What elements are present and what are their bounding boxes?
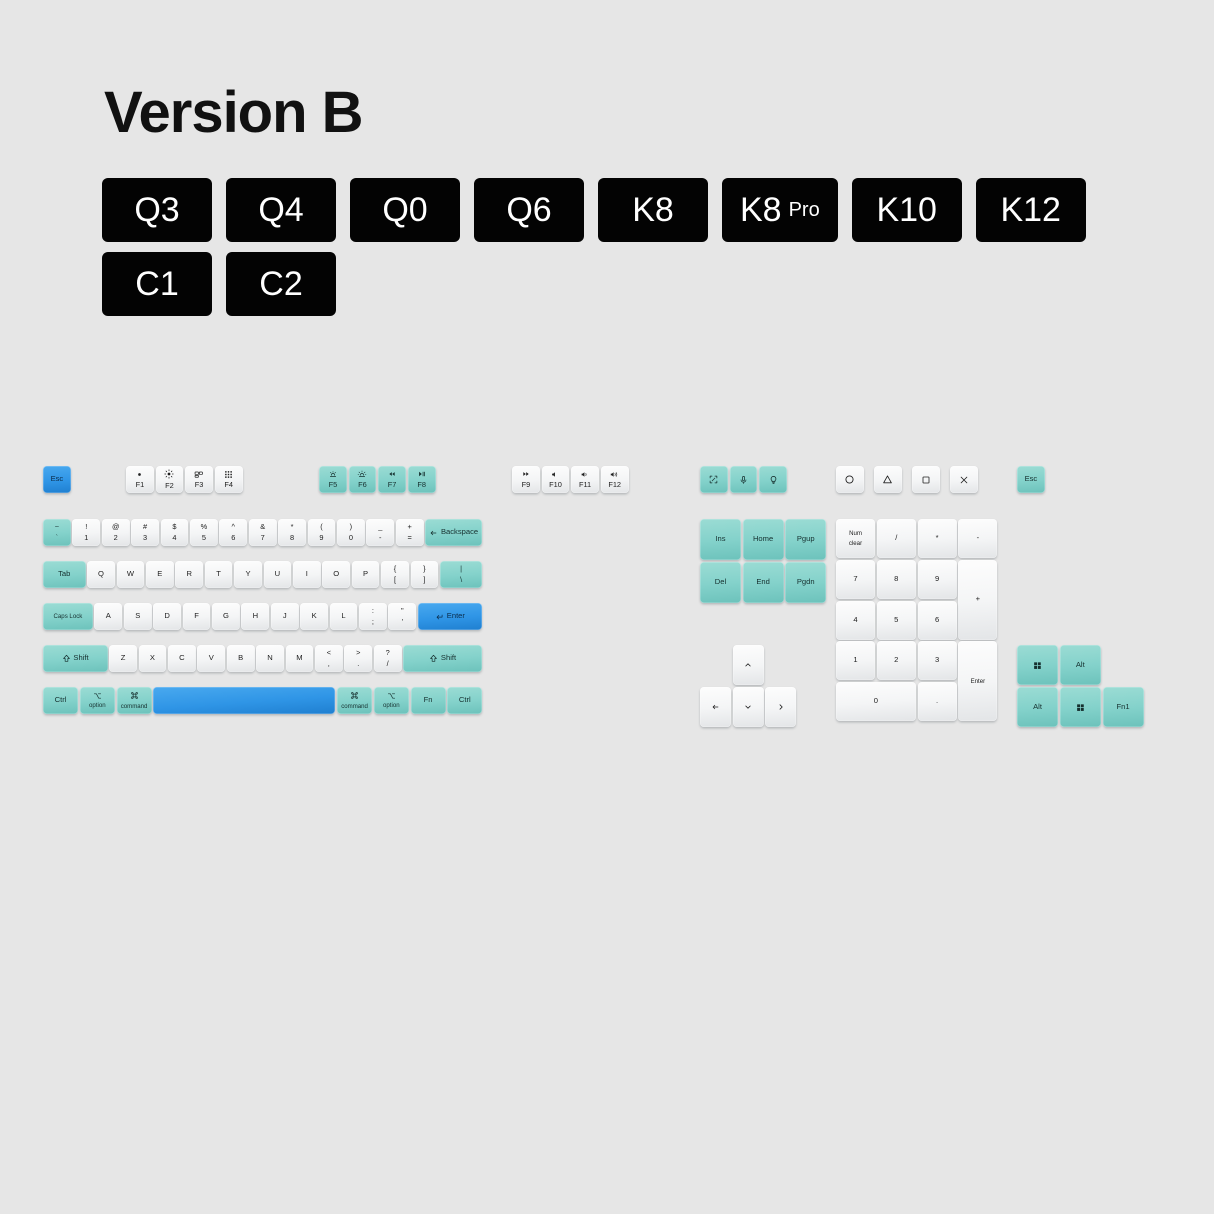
keycap-legend: 1	[853, 656, 857, 665]
keycap-qwerty-o[interactable]: O	[322, 561, 350, 588]
keycap-qwerty-e[interactable]: E	[146, 561, 174, 588]
keycap-legend: Home	[753, 535, 773, 544]
keycap-home-l[interactable]: L	[330, 603, 358, 630]
mute-icon	[551, 470, 560, 479]
keycap-legend: F	[194, 612, 199, 621]
keycap-nav-pgup[interactable]: Pgup	[785, 519, 826, 560]
keycap-legend-bottom: 5	[202, 534, 206, 543]
keycap-legend: 9	[935, 575, 939, 584]
mission-control-icon	[194, 470, 204, 479]
keycap-fn-label: F5	[329, 481, 338, 490]
keycap-shift-b[interactable]: B	[227, 645, 255, 672]
screenshot-icon	[709, 475, 718, 484]
keycap-qwerty-tab[interactable]: Tab	[43, 561, 86, 588]
keycap-qwerty-w[interactable]: W	[117, 561, 145, 588]
keycap-legend-top: &	[260, 523, 265, 532]
arrow-up-icon	[744, 661, 752, 669]
keycap-legend: command	[341, 703, 368, 710]
keycap-bottom-command[interactable]: command	[117, 687, 152, 714]
keycap-shift-n[interactable]: N	[256, 645, 284, 672]
keycap-legend-top: *	[291, 523, 294, 532]
keycap-bottom-option[interactable]: option	[374, 687, 409, 714]
keycap-alt-bottom[interactable]: Alt	[1017, 687, 1058, 727]
keycap-numpad-2[interactable]: 2	[877, 641, 916, 680]
keycap-legend: Shift	[73, 654, 88, 663]
keycap-legend: H	[253, 612, 258, 621]
keycap-fn-f7[interactable]: F7	[378, 466, 406, 493]
keycap-aux-cross-icon[interactable]	[950, 466, 978, 493]
keycap-num-4[interactable]: $4	[161, 519, 189, 546]
keycap-bottom-command[interactable]: command	[337, 687, 372, 714]
keycap-legend: Pgup	[797, 535, 815, 544]
keycap-legend-bottom: `	[56, 534, 58, 543]
keycap-layout-board: EscF1F2F3F4F5F6F7F8F9F10F11F12Esc~`!1@2#…	[0, 0, 1214, 1214]
keycap-numpad-1[interactable]: 1	[836, 641, 875, 680]
keycap-legend-bottom: -	[379, 534, 381, 543]
keycap-fn-label: F7	[388, 481, 397, 490]
keycap-fn-f11[interactable]: F11	[571, 466, 599, 493]
keycap-fn-f2[interactable]: F2	[156, 466, 184, 493]
fast-forward-icon	[521, 470, 531, 478]
keycap-legend: W	[127, 570, 134, 579]
keycap-legend: option	[89, 702, 106, 709]
keycap-legend-bottom: '	[402, 618, 403, 627]
keycap-fn-f3[interactable]: F3	[185, 466, 213, 493]
keycap-legend-bottom: ]	[423, 576, 425, 585]
keycap-qwerty-q[interactable]: Q	[87, 561, 115, 588]
keycap-fn-f5[interactable]: F5	[319, 466, 347, 493]
keycap-shift-[interactable]: >.	[344, 645, 372, 672]
keycap-legend: U	[275, 570, 280, 579]
keycap-home-k[interactable]: K	[300, 603, 328, 630]
keycap-shift-v[interactable]: V	[197, 645, 225, 672]
rewind-icon	[387, 470, 397, 478]
keycap-legend: 5	[894, 616, 898, 625]
keycap-legend-top: }	[423, 565, 425, 574]
keycap-win-right[interactable]	[1060, 687, 1101, 727]
keycap-legend: 3	[935, 656, 939, 665]
keycap-qwerty-[interactable]: |\	[440, 561, 483, 588]
keycap-numpad-6[interactable]: 6	[918, 601, 957, 640]
keycap-numpad-5[interactable]: 5	[877, 601, 916, 640]
keycap-arrow-up[interactable]	[733, 645, 764, 685]
arrow-down-icon	[744, 703, 752, 711]
keycap-legend-bottom: ;	[372, 618, 374, 627]
keycap-num-[interactable]: ~`	[43, 519, 71, 546]
keycap-legend-top: %	[201, 523, 208, 532]
keycap-alt-top[interactable]: Alt	[1060, 645, 1101, 685]
keycap-qwerty-r[interactable]: R	[175, 561, 203, 588]
keycap-fn-f6[interactable]: F6	[349, 466, 377, 493]
keycap-shift-z[interactable]: Z	[109, 645, 137, 672]
cross-icon	[959, 475, 969, 485]
keycap-arrow-left[interactable]	[700, 687, 731, 727]
keycap-legend: .	[936, 697, 938, 706]
command-icon	[130, 691, 139, 700]
keycap-legend-top: ^	[232, 523, 235, 532]
keycap-legend-bottom: /	[387, 660, 389, 669]
keycap-fn-label: F2	[165, 482, 174, 491]
keycap-legend-line2: clear	[849, 540, 862, 547]
keycap-shift-shift[interactable]: Shift	[403, 645, 482, 672]
keycap-home-f[interactable]: F	[183, 603, 211, 630]
keycap-legend: I	[306, 570, 308, 579]
keycap-win-left[interactable]	[1017, 645, 1058, 685]
shift-up-icon	[429, 654, 438, 663]
keycap-home-caps-lock[interactable]: Caps Lock	[43, 603, 93, 630]
keycap-legend: A	[106, 612, 111, 621]
keycap-fn-label: F1	[136, 481, 145, 490]
option-icon	[93, 692, 102, 700]
arrow-left-icon	[711, 703, 720, 711]
keycap-fn-f4[interactable]: F4	[215, 466, 243, 493]
keycap-legend: Backspace	[441, 528, 478, 537]
keycap-legend-top: #	[143, 523, 147, 532]
keycap-fn-label: F6	[358, 481, 367, 490]
command-icon	[350, 691, 359, 700]
keycap-aux-square-icon[interactable]	[912, 466, 940, 493]
keycap-numpad-plus[interactable]: +	[958, 560, 997, 640]
windows-icon	[1076, 703, 1085, 712]
keycap-legend-top: +	[408, 523, 412, 532]
shift-up-icon	[62, 654, 71, 663]
keycap-aux-screenshot-icon[interactable]	[700, 466, 728, 493]
square-icon	[921, 475, 931, 485]
keycap-num-8[interactable]: *8	[278, 519, 306, 546]
keycap-numpad-enter[interactable]: Enter	[958, 641, 997, 721]
keycap-fn-label: F11	[579, 481, 591, 490]
keycap-shift-[interactable]: ?/	[374, 645, 402, 672]
keycap-legend: G	[223, 612, 229, 621]
keycap-home-[interactable]: "'	[388, 603, 416, 630]
keycap-legend: Caps Lock	[54, 613, 83, 620]
lightbulb-icon	[769, 475, 778, 485]
keycap-fn-label: F8	[417, 481, 426, 490]
keycap-legend: 4	[853, 616, 857, 625]
launchpad-grid-icon	[224, 470, 233, 479]
keycap-home-a[interactable]: A	[94, 603, 122, 630]
keycap-legend: Ins	[715, 535, 725, 544]
keycap-numpad-zero[interactable]: 0	[836, 682, 916, 721]
keycap-home-enter[interactable]: Enter	[418, 603, 483, 630]
keycap-legend-bottom: ,	[328, 660, 330, 669]
keycap-legend: Q	[98, 570, 104, 579]
keycap-legend: Tab	[58, 570, 70, 579]
microphone-icon	[739, 475, 748, 485]
keycap-legend: Fn1	[1117, 703, 1130, 712]
keycap-legend-top: {	[394, 565, 396, 574]
arrow-left-icon	[429, 529, 438, 537]
brightness-high-icon	[164, 469, 174, 479]
keycap-legend-line1: Num	[849, 530, 862, 537]
option-icon	[387, 692, 396, 700]
keycap-legend: 6	[935, 616, 939, 625]
keycap-fn-esc[interactable]: Esc	[43, 466, 71, 493]
keycap-arrow-right[interactable]	[765, 687, 796, 727]
keycap-legend-bottom: 4	[172, 534, 176, 543]
keycap-legend: V	[209, 654, 214, 663]
enter-arrow-icon	[435, 613, 444, 621]
keycap-spacebar[interactable]	[153, 687, 335, 714]
keycap-legend: 2	[894, 656, 898, 665]
keycap-num-[interactable]: +=	[396, 519, 424, 546]
keycap-num-1[interactable]: !1	[72, 519, 100, 546]
keycap-legend-top: <	[327, 649, 331, 658]
keycap-shift-m[interactable]: M	[286, 645, 314, 672]
keycap-legend: Ctrl	[55, 696, 67, 705]
keycap-nav-ins[interactable]: Ins	[700, 519, 741, 560]
keycap-legend-bottom: [	[394, 576, 396, 585]
keycap-num-3[interactable]: #3	[131, 519, 159, 546]
keycap-home-g[interactable]: G	[212, 603, 240, 630]
keycap-legend: Y	[245, 570, 250, 579]
keycap-qwerty-[interactable]: {[	[381, 561, 409, 588]
windows-icon	[1033, 661, 1042, 670]
keycap-num-[interactable]: _-	[366, 519, 394, 546]
keycap-home-s[interactable]: S	[124, 603, 152, 630]
keycap-legend-top: )	[350, 523, 352, 532]
keycap-bottom-fn[interactable]: Fn	[411, 687, 446, 714]
keycap-legend: Alt	[1076, 661, 1085, 670]
keycap-legend: -	[977, 534, 980, 543]
keycap-legend: End	[756, 578, 770, 587]
keycap-fn-label: F3	[195, 481, 204, 490]
keycap-legend-top: @	[112, 523, 120, 532]
keycap-legend-top: "	[401, 607, 404, 616]
keycap-legend: T	[216, 570, 221, 579]
keycap-bottom-ctrl[interactable]: Ctrl	[43, 687, 78, 714]
keycap-legend: D	[164, 612, 169, 621]
keycap-bottom-ctrl[interactable]: Ctrl	[447, 687, 482, 714]
keycap-fn-f1[interactable]: F1	[126, 466, 154, 493]
keycap-nav-del[interactable]: Del	[700, 562, 741, 603]
keycap-legend-bottom: \	[460, 576, 462, 585]
play-pause-icon	[417, 470, 427, 478]
keycap-legend: /	[895, 534, 897, 543]
keycap-legend-top: |	[460, 565, 462, 574]
keycap-legend: *	[936, 534, 939, 543]
keycap-numpad-9[interactable]: 9	[918, 560, 957, 599]
keycap-fn-f12[interactable]: F12	[601, 466, 629, 493]
keycap-legend: E	[157, 570, 162, 579]
keycap-bottom-option[interactable]: option	[80, 687, 115, 714]
keycap-shift-c[interactable]: C	[168, 645, 196, 672]
keycap-legend: Enter	[971, 678, 986, 685]
keycap-legend: Alt	[1033, 703, 1042, 712]
keycap-num-backspace[interactable]: Backspace	[425, 519, 482, 546]
keycap-legend-bottom: 1	[84, 534, 88, 543]
keycap-fn1[interactable]: Fn1	[1103, 687, 1144, 727]
keycap-fn-label: F10	[549, 481, 562, 490]
keycap-legend-top: ?	[386, 649, 390, 658]
keycap-legend-top: !	[85, 523, 87, 532]
keycap-home-h[interactable]: H	[241, 603, 269, 630]
keycap-legend: option	[383, 702, 400, 709]
backlight-up-icon	[357, 470, 367, 479]
keycap-numpad-8[interactable]: 8	[877, 560, 916, 599]
keycap-qwerty-t[interactable]: T	[205, 561, 233, 588]
triangle-icon	[882, 474, 893, 485]
keycap-legend: B	[238, 654, 243, 663]
keycap-num-9[interactable]: (9	[308, 519, 336, 546]
keycap-legend-bottom: =	[408, 534, 412, 543]
keycap-legend: 7	[853, 575, 857, 584]
keycap-legend-bottom: 6	[231, 534, 235, 543]
keycap-legend-top: >	[356, 649, 360, 658]
keycap-shift-[interactable]: <,	[315, 645, 343, 672]
keycap-home-d[interactable]: D	[153, 603, 181, 630]
keycap-legend-top: :	[372, 607, 374, 616]
keycap-qwerty-i[interactable]: I	[293, 561, 321, 588]
keycap-legend: +	[976, 595, 980, 604]
keycap-aux-lightbulb-icon[interactable]	[759, 466, 787, 493]
keycap-shift-x[interactable]: X	[139, 645, 167, 672]
keycap-numpad-[interactable]: -	[958, 519, 997, 558]
keycap-legend: Esc	[1025, 475, 1038, 484]
keycap-shift-shift[interactable]: Shift	[43, 645, 108, 672]
keycap-numpad-4[interactable]: 4	[836, 601, 875, 640]
keycap-legend-bottom: 7	[261, 534, 265, 543]
keycap-legend-bottom: 3	[143, 534, 147, 543]
keycap-legend: 8	[894, 575, 898, 584]
keycap-fn-label: F9	[522, 481, 531, 490]
volume-up-icon	[609, 470, 620, 479]
keycap-legend-bottom: 0	[349, 534, 353, 543]
keycap-numpad-[interactable]: /	[877, 519, 916, 558]
keycap-legend: X	[150, 654, 155, 663]
keycap-legend-top: (	[320, 523, 322, 532]
keycap-home-j[interactable]: J	[271, 603, 299, 630]
keycap-nav-home[interactable]: Home	[743, 519, 784, 560]
keycap-legend: 0	[874, 697, 878, 706]
keycap-legend: R	[186, 570, 191, 579]
keycap-fn-f9[interactable]: F9	[512, 466, 540, 493]
keycap-num-7[interactable]: &7	[249, 519, 277, 546]
keycap-aux-esc[interactable]: Esc	[1017, 466, 1045, 493]
keycap-fn-f8[interactable]: F8	[408, 466, 436, 493]
keycap-legend-top: _	[378, 523, 382, 532]
keycap-qwerty-u[interactable]: U	[264, 561, 292, 588]
keycap-legend: O	[333, 570, 339, 579]
keycap-num-5[interactable]: %5	[190, 519, 218, 546]
keycap-aux-triangle-icon[interactable]	[874, 466, 902, 493]
circle-icon	[844, 474, 855, 485]
keycap-qwerty-p[interactable]: P	[352, 561, 380, 588]
keycap-legend: P	[363, 570, 368, 579]
keycap-legend-top: ~	[55, 523, 59, 532]
backlight-down-icon	[328, 470, 338, 479]
keycap-num-0[interactable]: )0	[337, 519, 365, 546]
keycap-nav-end[interactable]: End	[743, 562, 784, 603]
keycap-legend: Ctrl	[459, 696, 471, 705]
keycap-legend: Z	[121, 654, 126, 663]
keycap-legend: C	[179, 654, 184, 663]
keycap-legend: J	[283, 612, 287, 621]
keycap-legend: Enter	[447, 612, 465, 621]
keycap-legend: Pgdn	[797, 578, 815, 587]
keycap-numpad-num[interactable]: Numclear	[836, 519, 875, 558]
keycap-qwerty-y[interactable]: Y	[234, 561, 262, 588]
keycap-legend: Del	[715, 578, 726, 587]
keycap-legend: command	[121, 703, 148, 710]
keycap-legend-bottom: .	[357, 660, 359, 669]
keycap-home-[interactable]: :;	[359, 603, 387, 630]
keycap-arrow-down[interactable]	[733, 687, 764, 727]
keycap-num-6[interactable]: ^6	[219, 519, 247, 546]
keycap-numpad-[interactable]: .	[918, 682, 957, 721]
keycap-legend: K	[312, 612, 317, 621]
keycap-aux-circle-icon[interactable]	[836, 466, 864, 493]
brightness-low-icon	[135, 470, 144, 479]
keycap-numpad-[interactable]: *	[918, 519, 957, 558]
keycap-fn-label: F4	[224, 481, 233, 490]
arrow-right-icon	[777, 703, 785, 711]
keycap-legend-bottom: 2	[114, 534, 118, 543]
keycap-numpad-3[interactable]: 3	[918, 641, 957, 680]
keycap-aux-microphone-icon[interactable]	[730, 466, 758, 493]
keycap-legend-top: $	[172, 523, 176, 532]
keycap-legend-bottom: 8	[290, 534, 294, 543]
keycap-fn-label: F12	[608, 481, 621, 490]
keycap-qwerty-[interactable]: }]	[411, 561, 439, 588]
keycap-legend: Fn	[424, 696, 433, 705]
keycap-legend: L	[341, 612, 345, 621]
keycap-num-2[interactable]: @2	[102, 519, 130, 546]
keycap-fn-f10[interactable]: F10	[542, 466, 570, 493]
keycap-numpad-7[interactable]: 7	[836, 560, 875, 599]
keycap-legend: Esc	[51, 475, 64, 484]
volume-down-icon	[580, 470, 590, 479]
keycap-legend: Shift	[441, 654, 456, 663]
keycap-legend: M	[296, 654, 302, 663]
keycap-legend: S	[135, 612, 140, 621]
keycap-legend-bottom: 9	[319, 534, 323, 543]
keycap-legend: N	[267, 654, 272, 663]
keycap-nav-pgdn[interactable]: Pgdn	[785, 562, 826, 603]
